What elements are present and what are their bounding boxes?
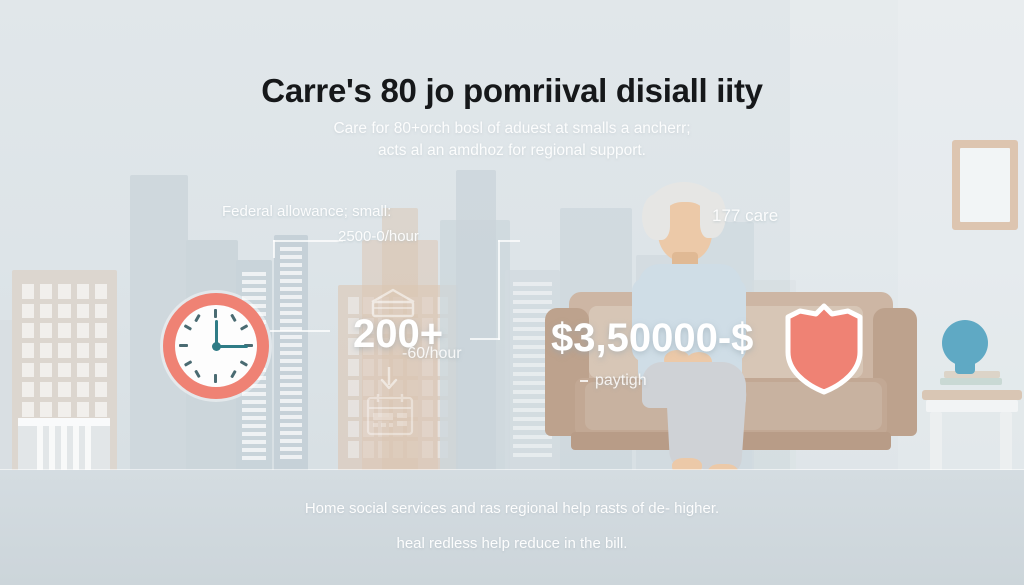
building — [274, 235, 308, 470]
footer-line-1: Home social services and ras regional he… — [0, 490, 1024, 528]
bullet-marker — [580, 380, 588, 382]
shield-icon — [782, 302, 866, 396]
page-title: Carre's 80 jo pomriival disiall iity — [0, 72, 1024, 110]
person-hair — [642, 194, 670, 240]
vase-icon — [942, 320, 988, 366]
page-subtitle-line-2: acts al an amdhoz for regional support. — [0, 140, 1024, 162]
infographic-canvas: Carre's 80 jo pomriival disiall iity Car… — [0, 0, 1024, 585]
stat-caption-hours: -60/hour — [402, 345, 462, 363]
calendar-icon — [364, 392, 416, 438]
stat-caption-cost: paytigh — [595, 372, 647, 390]
arrow-down-icon — [374, 365, 404, 393]
stat-value-cost: $3,50000-$ — [551, 316, 753, 361]
building — [18, 418, 110, 470]
clock-icon — [163, 293, 269, 399]
page-subtitle-line-1: Care for 80+orch bosl of aduest at small… — [0, 118, 1024, 140]
books-icon — [940, 378, 1002, 385]
rate-label: 2500-0/hour — [338, 228, 419, 245]
person-leg — [666, 381, 712, 469]
care-label: 177 care — [712, 206, 778, 226]
building — [456, 170, 496, 470]
footer-line-2: heal redless help reduce in the bill. — [0, 525, 1024, 563]
federal-allowance-label: Federal allowance; small: — [222, 203, 391, 220]
